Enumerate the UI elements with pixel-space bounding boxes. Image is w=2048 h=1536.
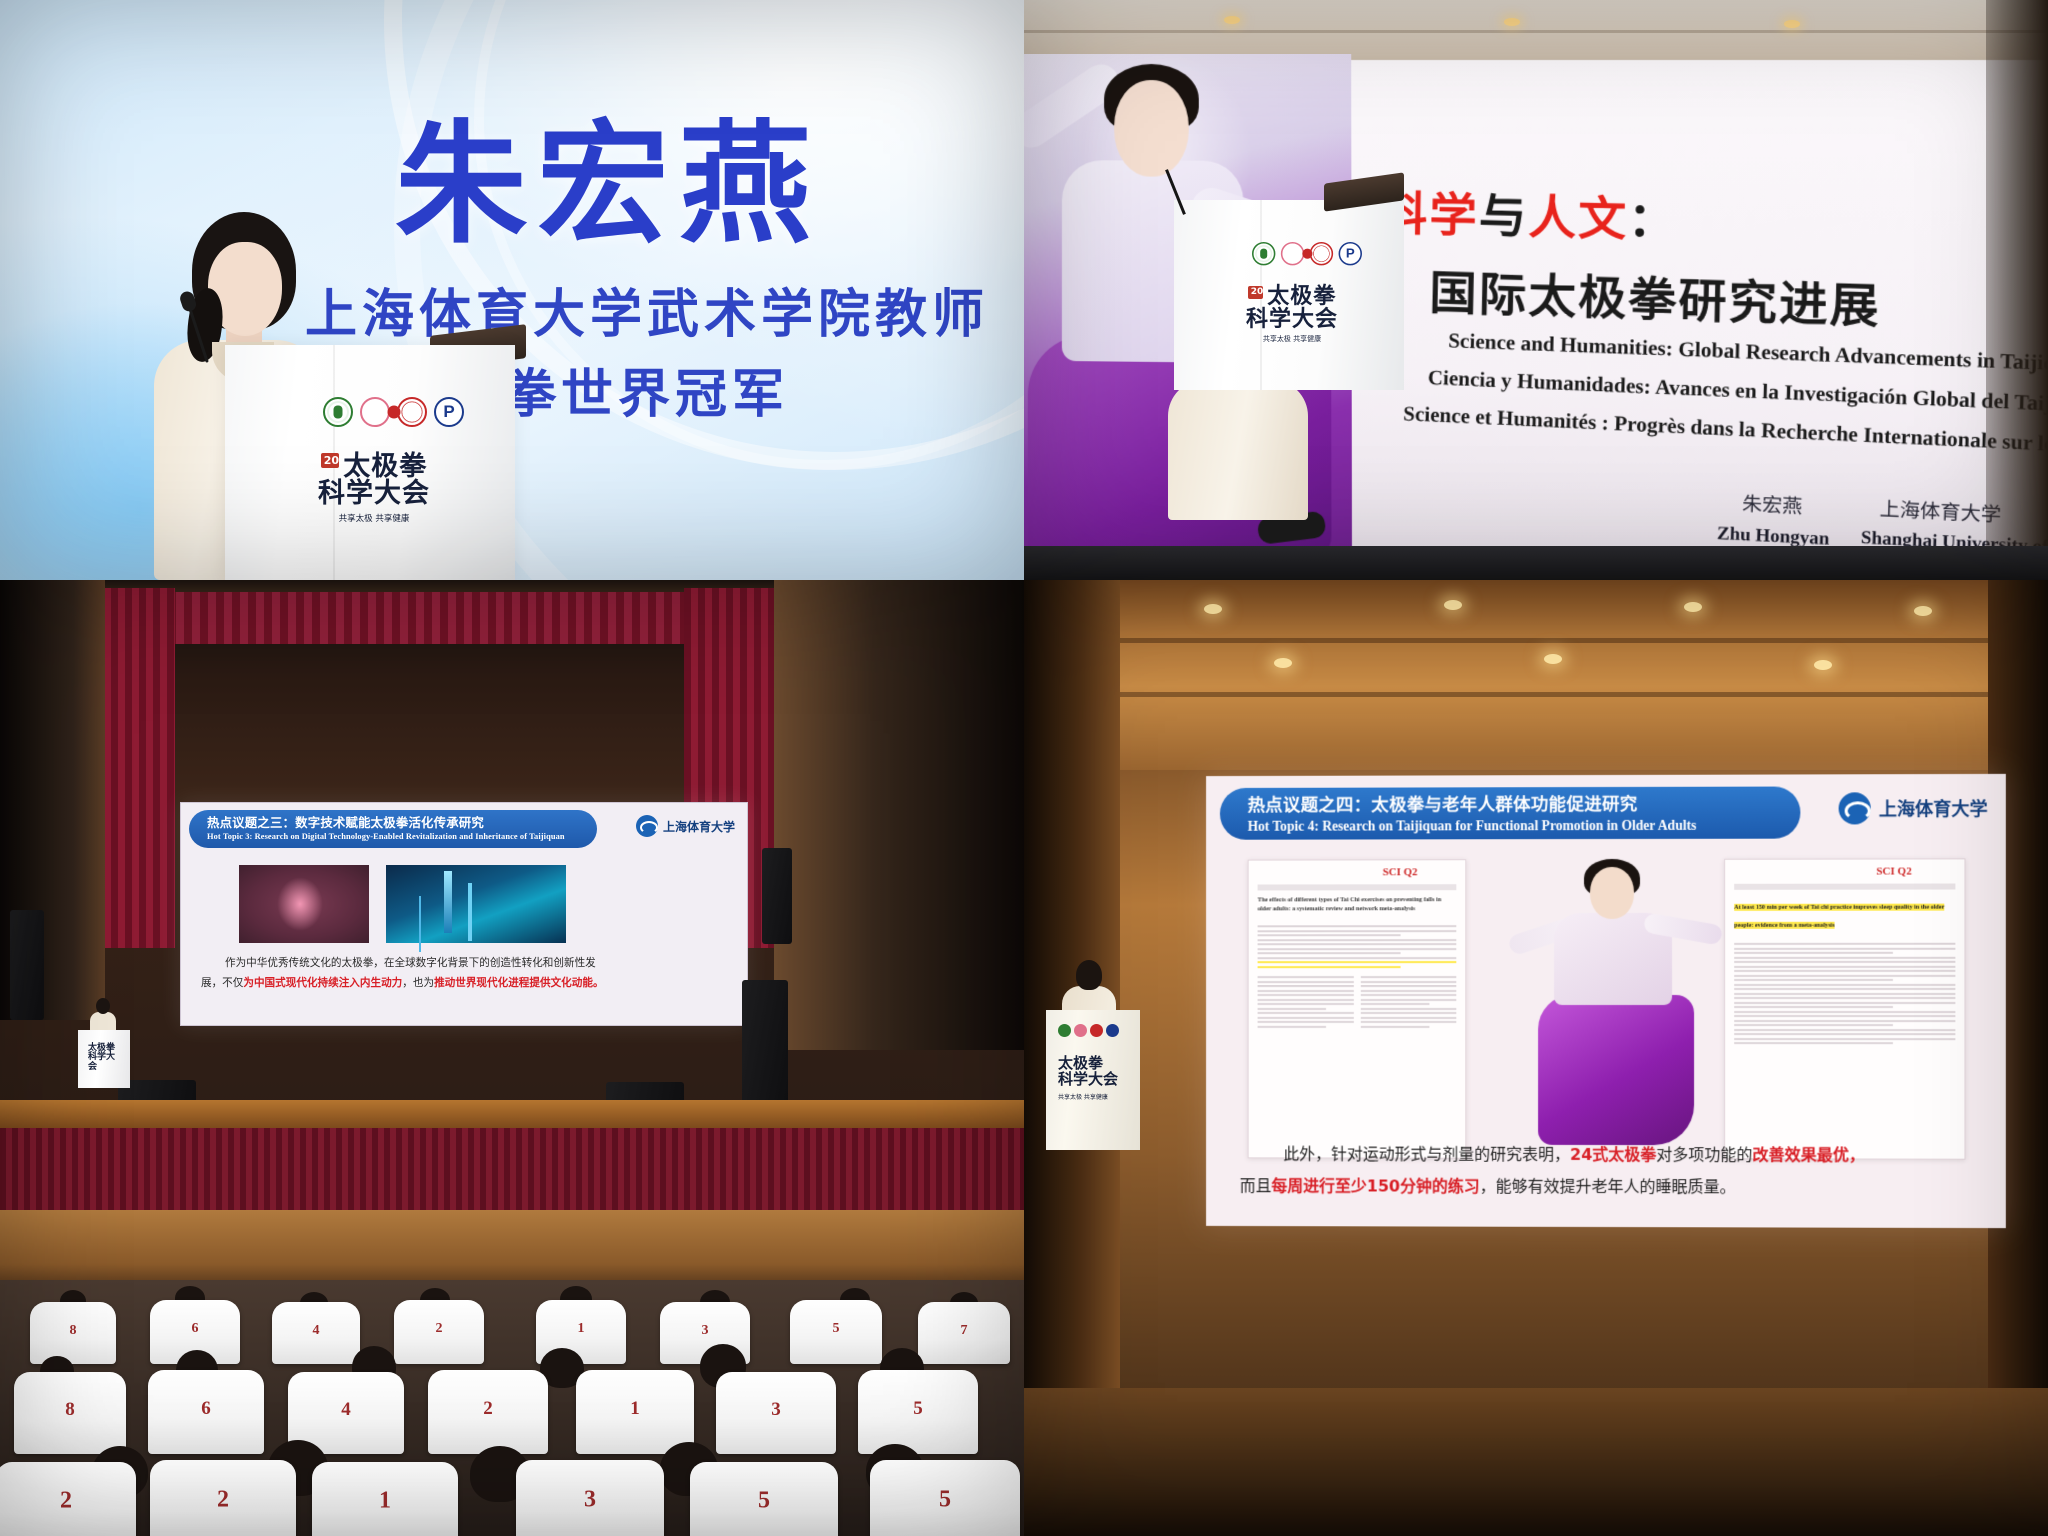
seat: 3 bbox=[716, 1372, 836, 1454]
conference-logo-year: 2025 bbox=[1248, 286, 1263, 299]
slide-header-en: Hot Topic 3: Research on Digital Technol… bbox=[207, 832, 597, 841]
slide-body-line2-mid: ，也为 bbox=[402, 977, 434, 989]
red-seal-emblem-icon bbox=[397, 397, 427, 427]
blue-p-emblem-icon: P bbox=[1339, 242, 1362, 265]
stage-floor bbox=[1024, 1388, 2048, 1536]
slide-body-line2-prefix: 而且 bbox=[1240, 1176, 1272, 1195]
ceiling-lamp-icon bbox=[1444, 600, 1462, 610]
podium: P 2025 太极拳 科学大会 共享太极 共享健康 bbox=[1174, 200, 1404, 390]
pink-athlete-emblem-icon bbox=[360, 397, 390, 427]
slide-body-line2-highlight1: 为中国式现代化持续注入内生动力 bbox=[243, 977, 402, 989]
conference-logo-line1: 太极拳 bbox=[343, 453, 427, 480]
slide-author-org-cn: 上海体育大学 bbox=[1879, 494, 2001, 528]
podium: P 2025 太极拳 科学大会 共享太极 共享健康 bbox=[225, 345, 515, 580]
seat: 8 bbox=[30, 1302, 116, 1364]
paper-authors-left bbox=[1258, 918, 1457, 923]
slide-header-banner: 热点议题之四：太极拳与老年人群体功能促进研究 Hot Topic 4: Rese… bbox=[1220, 786, 1800, 839]
stage-screen-slide: 热点议题之四：太极拳与老年人群体功能促进研究 Hot Topic 4: Rese… bbox=[1206, 774, 2006, 1228]
slide-header-cn: 热点议题之四：太极拳与老年人群体功能促进研究 bbox=[1248, 790, 1801, 816]
stage-edge bbox=[0, 1100, 1024, 1128]
ceiling bbox=[1024, 580, 2048, 770]
university-label: 上海体育大学 bbox=[1879, 795, 1988, 821]
green-institution-emblem-icon bbox=[323, 397, 353, 427]
seat: 1 bbox=[576, 1370, 694, 1454]
stage-screen-slide: 热点议题之三：数字技术赋能太极拳活化传承研究 Hot Topic 3: Rese… bbox=[180, 802, 748, 1026]
photo-collage: 朱宏燕 上海体育大学武术学院教师 太极拳世界冠军 P 2025 太极拳 bbox=[0, 0, 2048, 1536]
ceiling-lamp-icon bbox=[1204, 604, 1222, 614]
paper-authors-right bbox=[1734, 936, 1955, 941]
conference-logo-tagline: 共享太极 共享健康 bbox=[299, 512, 449, 524]
seat: 8 bbox=[14, 1372, 126, 1454]
university-mark-icon bbox=[1839, 792, 1871, 824]
seat: 6 bbox=[148, 1370, 264, 1454]
conference-logo-line2: 科学大会 bbox=[88, 1053, 118, 1073]
slide-body-line1: 作为中华优秀传统文化的太极拳，在全球数字化背景下的创造性转化和创新性发 bbox=[225, 955, 596, 970]
seat: 2 bbox=[394, 1300, 484, 1364]
slide-body-line2-highlight1: 每周进行至少150分钟的练习 bbox=[1271, 1176, 1479, 1195]
slide-title-line1: 科学与人文： bbox=[1380, 177, 1679, 251]
slide-header-en: Hot Topic 4: Research on Taijiquan for F… bbox=[1248, 818, 1801, 835]
seat-rows: 8 6 4 2 1 3 5 7 8 6 4 2 1 3 5 bbox=[0, 1280, 1024, 1536]
conference-logo: 太极拳 科学大会 共享太极 共享健康 bbox=[1058, 1056, 1118, 1101]
seat: 5 bbox=[690, 1462, 838, 1536]
pink-athlete-emblem-icon bbox=[1281, 242, 1304, 265]
conference-logo-tagline: 共享太极 共享健康 bbox=[1232, 334, 1352, 344]
slide-header-banner: 热点议题之三：数字技术赋能太极拳活化传承研究 Hot Topic 3: Rese… bbox=[189, 810, 597, 848]
panel-bottom-left: 热点议题之三：数字技术赋能太极拳活化传承研究 Hot Topic 3: Rese… bbox=[0, 580, 1024, 1536]
journal-badge-right: SCI Q2 bbox=[1876, 865, 1911, 877]
conference-logo-line1: 太极拳 bbox=[1267, 286, 1336, 308]
university-mark-icon bbox=[636, 815, 658, 837]
panel-top-left: 朱宏燕 上海体育大学武术学院教师 太极拳世界冠军 P 2025 太极拳 bbox=[0, 0, 1024, 580]
ceiling-lamp-icon bbox=[1784, 20, 1800, 28]
slide-body-line2: 展，不仅为中国式现代化持续注入内生动力，也为推动世界现代化进程提供文化动能。 bbox=[201, 975, 604, 990]
seat: 4 bbox=[272, 1302, 360, 1364]
journal-badge-left: SCI Q2 bbox=[1383, 866, 1418, 878]
slide-author-cn: 朱宏燕 bbox=[1742, 489, 1803, 520]
slide-body-line1-highlight2: 改善效果最优， bbox=[1753, 1145, 1866, 1164]
ceiling-lamp-icon bbox=[1274, 658, 1292, 668]
slide-image-right bbox=[386, 865, 566, 943]
side-wall bbox=[1986, 0, 2048, 580]
seat: 3 bbox=[516, 1460, 664, 1536]
green-institution-emblem-icon bbox=[1058, 1024, 1071, 1037]
conference-logo-year: 2025 bbox=[321, 453, 339, 468]
podium-emblem-row: P bbox=[1252, 242, 1362, 265]
conference-logo-line2: 科学大会 bbox=[1058, 1072, 1118, 1088]
loudspeaker bbox=[10, 910, 44, 1020]
ceiling-lamp-icon bbox=[1814, 660, 1832, 670]
conference-logo: 2025 太极拳 科学大会 共享太极 共享健康 bbox=[1232, 286, 1352, 344]
conference-logo-line2: 科学大会 bbox=[1246, 308, 1338, 331]
slide-title-part3: 人文 bbox=[1528, 189, 1629, 247]
paper-title-right: At least 150 min per week of Tai chi pra… bbox=[1734, 904, 1944, 929]
ceiling-lamp-icon bbox=[1224, 16, 1240, 24]
seat: 5 bbox=[790, 1300, 882, 1364]
university-logo: 上海体育大学 bbox=[636, 815, 735, 837]
podium-emblem-row: P bbox=[323, 397, 464, 427]
podium: 太极拳 科学大会 共享太极 共享健康 bbox=[1046, 1010, 1140, 1150]
seat: 7 bbox=[918, 1302, 1010, 1364]
auditorium-wall-right bbox=[774, 580, 1024, 1050]
university-logo: 上海体育大学 bbox=[1839, 792, 1988, 824]
research-paper-right: SCI Q2 At least 150 min per week of Tai … bbox=[1724, 858, 1965, 1159]
conference-logo-tagline: 共享太极 共享健康 bbox=[1058, 1092, 1118, 1101]
stage-skirt bbox=[0, 1128, 1024, 1210]
red-seal-emblem-icon bbox=[1090, 1024, 1103, 1037]
conference-logo: 2025 太极拳 科学大会 共享太极 共享健康 bbox=[299, 453, 449, 524]
podium-emblem-row bbox=[1058, 1024, 1119, 1037]
seat: 2 bbox=[0, 1462, 136, 1536]
paper-title-left: The effects of different types of Tai Ch… bbox=[1258, 896, 1457, 914]
seat: 2 bbox=[428, 1370, 548, 1454]
blue-p-emblem-icon bbox=[1106, 1024, 1119, 1037]
slide-title-line2: 国际太极拳研究进展 bbox=[1429, 256, 1881, 337]
seat: 5 bbox=[858, 1370, 978, 1454]
red-seal-emblem-icon bbox=[1310, 242, 1333, 265]
panel-top-right: 科学与人文： 国际太极拳研究进展 Science and Humanities:… bbox=[1024, 0, 2048, 580]
slide-body-line2-suffix: ，能够有效提升老年人的睡眠质量。 bbox=[1480, 1177, 1736, 1197]
pink-athlete-emblem-icon bbox=[1074, 1024, 1087, 1037]
speaker-affiliation-line1: 上海体育大学武术学院教师 bbox=[305, 272, 989, 347]
slide-title-part2: 与 bbox=[1478, 188, 1529, 244]
seat: 2 bbox=[150, 1460, 296, 1536]
speaker-name: 朱宏燕 bbox=[395, 78, 821, 269]
slide-body-line2-highlight2: 推动世界现代化进程提供文化动能。 bbox=[434, 977, 604, 989]
loudspeaker bbox=[762, 848, 792, 944]
conference-logo-line2: 科学大会 bbox=[318, 480, 430, 508]
slide-title-colon: ： bbox=[1628, 192, 1679, 248]
panel-bottom-right: 热点议题之四：太极拳与老年人群体功能促进研究 Hot Topic 4: Rese… bbox=[1024, 580, 2048, 1536]
research-paper-left: SCI Q2 The effects of different types of… bbox=[1248, 859, 1467, 1158]
podium: 太极拳 科学大会 bbox=[78, 1030, 130, 1088]
ceiling-lamp-icon bbox=[1684, 602, 1702, 612]
ceiling-lamp-icon bbox=[1544, 654, 1562, 664]
green-institution-emblem-icon bbox=[1252, 242, 1275, 265]
university-label: 上海体育大学 bbox=[663, 818, 735, 835]
slide-body-line2-prefix: 展，不仅 bbox=[201, 977, 243, 989]
slide-body-line2: 而且每周进行至少150分钟的练习，能够有效提升老年人的睡眠质量。 bbox=[1240, 1172, 1736, 1197]
slide-image-left bbox=[239, 865, 369, 943]
seat: 5 bbox=[870, 1460, 1020, 1536]
loudspeaker bbox=[742, 980, 788, 1110]
conference-logo: 太极拳 科学大会 bbox=[88, 1044, 118, 1072]
ceiling-lamp-icon bbox=[1914, 606, 1932, 616]
slide-header-cn: 热点议题之三：数字技术赋能太极拳活化传承研究 bbox=[207, 813, 597, 831]
taijiquan-performer-photo bbox=[1524, 867, 1704, 1157]
blue-p-emblem-icon: P bbox=[434, 397, 464, 427]
ceiling-lamp-icon bbox=[1504, 18, 1520, 26]
seat: 1 bbox=[312, 1462, 458, 1536]
